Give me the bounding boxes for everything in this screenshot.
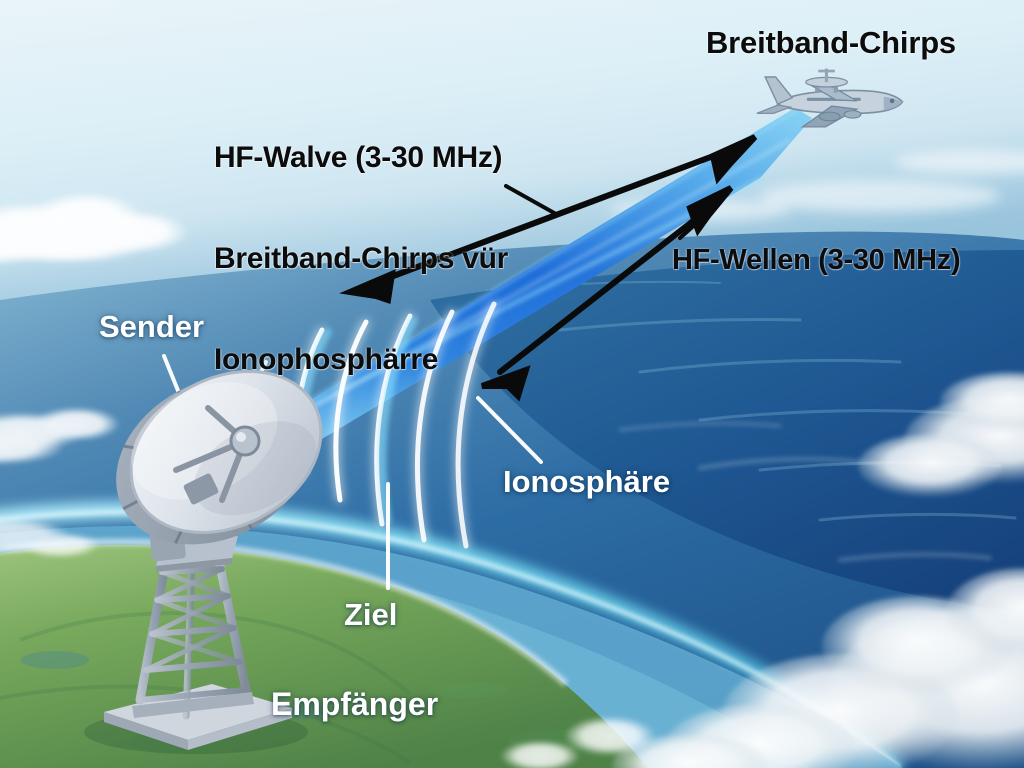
label-hf-wellen: HF-Wellen (3-30 MHz) [672,244,960,276]
label-hf-wave-line1: HF-Walve (3-30 MHz) [214,141,508,175]
label-hf-wave-line2: Breitband-Chirps vür [214,242,508,276]
label-ionosphaere: Ionosphäre [503,465,670,500]
label-hf-wave-line3: Ionophosphärre [214,343,508,377]
label-breitband-chirps-top: Breitband-Chirps [706,26,956,61]
tail-fin [765,77,792,104]
label-hf-wave-block: HF-Walve (3-30 MHz) Breitband-Chirps vür… [214,74,508,444]
label-empfaenger: Empfänger [271,687,438,723]
label-sender: Sender [99,310,204,345]
label-ziel: Ziel [344,598,397,633]
target-aircraft [0,0,1024,768]
diagram-canvas: Breitband-Chirps HF-Walve (3-30 MHz) Bre… [0,0,1024,768]
